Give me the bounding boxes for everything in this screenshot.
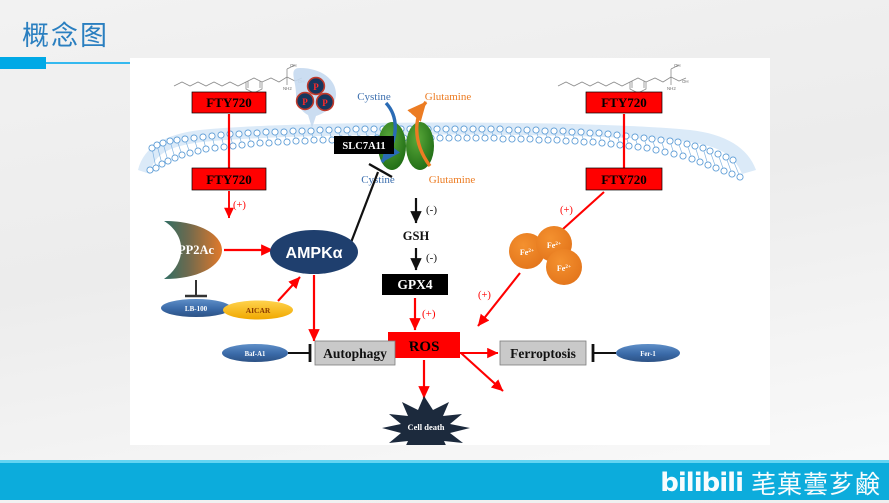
fty720-molecule-left-icon: OH OH NH2 (174, 63, 305, 93)
pp2ac-label: PP2Ac (178, 243, 215, 257)
fty720-top-right-label: FTY720 (601, 95, 647, 110)
aicar-node[interactable]: AICAR (223, 301, 293, 320)
gpx4-label: GPX4 (397, 277, 432, 292)
svg-text:NH2: NH2 (283, 86, 292, 91)
ros-to-ferroptosis-edge (461, 353, 503, 391)
fer-1-inhibition-edge (593, 344, 616, 362)
iron-pool-icon[interactable]: Fe2+ Fe2+ Fe2+ (509, 226, 582, 285)
pp2ac-activation-sign-label: (+) (233, 200, 246, 211)
cell-death-label: Cell death (407, 422, 444, 432)
bottom-bar: bilibili 芼菓蕓芗鹸 (0, 460, 889, 500)
fty720-top-left-node[interactable]: FTY720 (192, 92, 266, 113)
svg-text:NH2: NH2 (667, 86, 676, 91)
fty720-bottom-right-label: FTY720 (601, 172, 647, 187)
slc7a11-label: SLC7A11 (342, 141, 385, 152)
cystine-extracellular-label: Cystine (357, 91, 391, 103)
lb100-node[interactable]: LB-100 (161, 299, 231, 317)
glutamine-intracellular-label: Glutamine (429, 174, 476, 186)
fe-ros-sign-label: (+) (478, 290, 491, 301)
bilibili-logo: bilibili (660, 468, 743, 498)
baf-a1-label: Baf-A1 (245, 351, 266, 358)
fty720-bottom-left-label: FTY720 (206, 172, 252, 187)
pp2ac-node[interactable]: PP2Ac (164, 221, 222, 279)
aicar-activates-ampk-edge (278, 277, 300, 301)
fer-1-node[interactable]: Fer-1 (616, 344, 680, 362)
ferroptosis-node[interactable]: Ferroptosis (500, 341, 586, 365)
gsh-gpx4-sign-label: (-) (426, 252, 437, 264)
lb100-inhibition-edge (185, 280, 207, 296)
concept-diagram-panel: OH OH NH2 OH OH NH2 (130, 58, 770, 445)
baf-a1-inhibition-edge (288, 344, 310, 362)
autophagy-label: Autophagy (323, 346, 387, 361)
phosphate-label-1: P (313, 82, 319, 92)
cystine-gsh-sign-label: (-) (426, 204, 437, 216)
fty720-bottom-left-node[interactable]: FTY720 (192, 168, 266, 190)
phosphate-bubble-icon: P P P (293, 68, 336, 128)
ferroptosis-label: Ferroptosis (510, 346, 576, 361)
baf-a1-node[interactable]: Baf-A1 (222, 344, 288, 362)
glutamine-extracellular-label: Glutamine (425, 91, 472, 103)
svg-text:OH: OH (290, 63, 297, 68)
gsh-label: GSH (403, 229, 430, 243)
gpx4-node[interactable]: GPX4 (382, 274, 448, 295)
page-title: 概念图 (22, 14, 109, 53)
fer-1-label: Fer-1 (640, 351, 656, 358)
iron-activation-sign-label: (+) (560, 205, 573, 216)
phosphate-label-2: P (302, 97, 308, 107)
phosphate-label-3: P (322, 98, 328, 108)
aicar-label: AICAR (246, 306, 271, 315)
fty720-molecule-right-icon: OH OH NH2 (558, 63, 689, 93)
watermark-username: 芼菓蕓芗鹸 (751, 465, 881, 501)
autophagy-ferroptosis-sign-label: (+) (440, 338, 453, 349)
autophagy-node[interactable]: Autophagy (315, 341, 395, 365)
svg-text:OH: OH (682, 79, 689, 84)
fty720-top-left-label: FTY720 (206, 95, 252, 110)
ampka-label: AMPKα (286, 245, 343, 262)
bilibili-watermark: bilibili 芼菓蕓芗鹸 (660, 463, 881, 503)
svg-text:OH: OH (674, 63, 681, 68)
slc7a11-label-box[interactable]: SLC7A11 (334, 136, 394, 154)
fty720-bottom-right-node[interactable]: FTY720 (586, 168, 662, 190)
fty720-top-right-node[interactable]: FTY720 (586, 92, 662, 113)
lb100-label: LB-100 (185, 305, 208, 313)
gpx4-ros-sign-label: (+) (422, 308, 436, 320)
title-underline-tab (0, 57, 46, 69)
ampka-node[interactable]: AMPKα (270, 230, 358, 274)
cell-death-node[interactable]: Cell death (382, 396, 470, 445)
